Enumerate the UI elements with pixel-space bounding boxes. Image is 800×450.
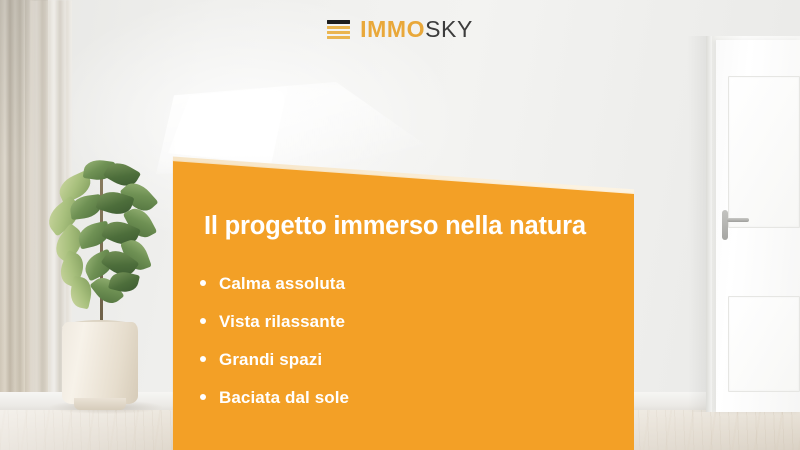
feature-list: Calma assoluta Vista rilassante Grandi s… [200,264,620,416]
immosky-logo[interactable]: IMMOSKY [327,18,473,41]
list-item: Baciata dal sole [200,378,620,416]
list-item-label: Calma assoluta [219,275,345,292]
slide-canvas: Il progetto immerso nella natura Calma a… [0,0,800,450]
orange-panel-wrapper: Il progetto immerso nella natura Calma a… [0,0,800,450]
list-item: Vista rilassante [200,302,620,340]
logo-sky-text: SKY [425,16,473,42]
header: IMMOSKY [0,0,800,58]
bullet-dot-icon [200,356,206,362]
bullet-dot-icon [200,318,206,324]
list-item-label: Baciata dal sole [219,389,349,406]
logo-immo-text: IMMO [360,16,425,42]
list-item: Grandi spazi [200,340,620,378]
bullet-dot-icon [200,394,206,400]
logo-wordmark: IMMOSKY [360,18,473,41]
list-item: Calma assoluta [200,264,620,302]
panel-title: Il progetto immerso nella natura [204,212,616,240]
list-item-label: Vista rilassante [219,313,345,330]
immosky-bars-icon [327,20,350,39]
panel-content: Il progetto immerso nella natura Calma a… [172,150,634,450]
list-item-label: Grandi spazi [219,351,322,368]
bullet-dot-icon [200,280,206,286]
